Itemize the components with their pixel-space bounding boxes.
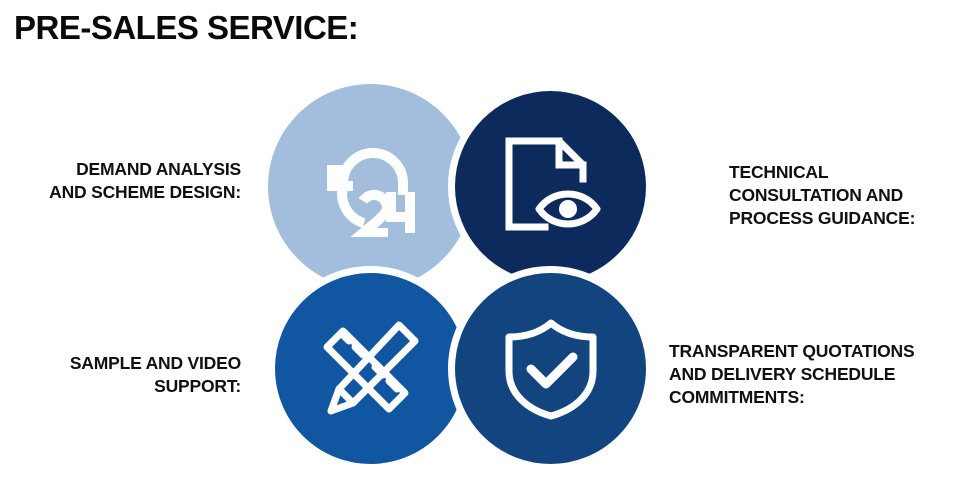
shield-check-icon bbox=[503, 317, 599, 421]
four-circle-diagram bbox=[268, 84, 668, 484]
label-sample-video-support: SAMPLE AND VIDEO SUPPORT: bbox=[0, 352, 241, 398]
label-demand-analysis: DEMAND ANALYSIS AND SCHEME DESIGN: bbox=[0, 158, 241, 204]
clock-24-rotate-icon bbox=[317, 137, 425, 237]
pencil-ruler-icon bbox=[317, 315, 425, 423]
circle-technical-consultation[interactable] bbox=[448, 84, 653, 289]
circle-transparent-quotations[interactable] bbox=[448, 266, 653, 471]
circle-sample-video-support[interactable] bbox=[268, 266, 473, 471]
page-title: PRE-SALES SERVICE: bbox=[14, 10, 358, 46]
label-technical-consultation: TECHNICAL CONSULTATION AND PROCESS GUIDA… bbox=[729, 161, 959, 230]
label-transparent-quotations: TRANSPARENT QUOTATIONS AND DELIVERY SCHE… bbox=[669, 340, 960, 409]
circle-demand-analysis[interactable] bbox=[268, 84, 473, 289]
document-eye-icon bbox=[501, 135, 601, 239]
